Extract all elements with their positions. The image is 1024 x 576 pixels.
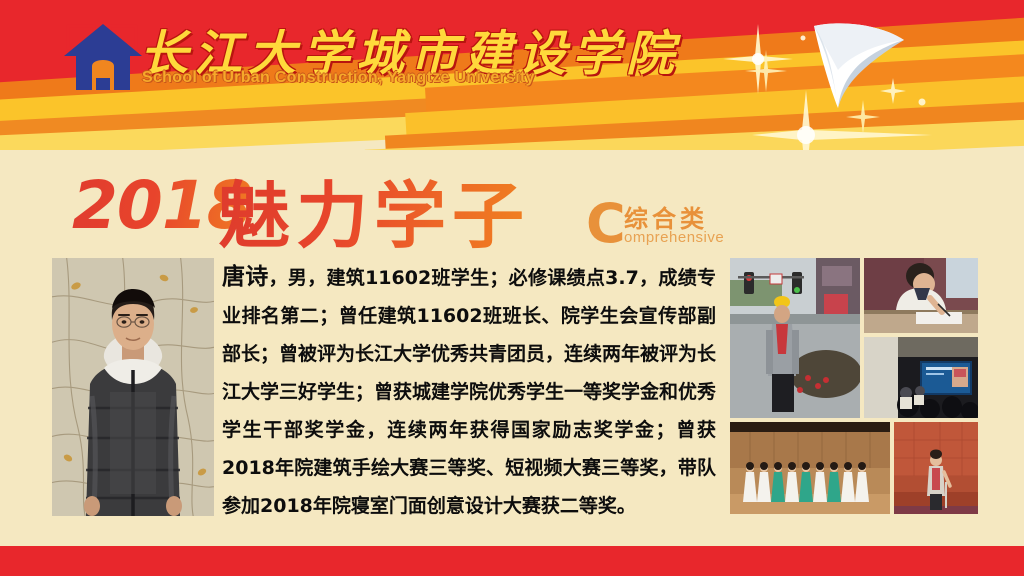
photo-lecture-hall xyxy=(864,337,978,418)
category-letter: C xyxy=(586,197,626,251)
photo-stage-chorus xyxy=(730,422,890,514)
school-name-en: School of Urban Construction, Yangtze Un… xyxy=(142,69,535,87)
title-row: 2018 魅力学子 C 综合类 omprehensive xyxy=(0,155,1024,260)
category-label-en: omprehensive xyxy=(624,229,724,246)
footer-band xyxy=(0,546,1024,576)
category-badge: C 综合类 omprehensive xyxy=(586,197,746,255)
header-banner: 长江大学城市建设学院 School of Urban Construction,… xyxy=(0,0,1024,150)
photo-stage-solo xyxy=(894,422,978,514)
photo-studying-desk xyxy=(864,258,978,333)
poster-root: 长江大学城市建设学院 School of Urban Construction,… xyxy=(0,0,1024,576)
paper-plane-icon xyxy=(800,18,920,110)
house-logo-icon xyxy=(62,16,144,94)
photo-collage xyxy=(730,258,1012,518)
student-name: 唐诗 xyxy=(222,264,269,290)
student-bio: 唐诗，男，建筑11602班学生；必修课绩点3.7，成绩专业排名第二；曾任建筑11… xyxy=(222,258,716,525)
photo-traffic-volunteer xyxy=(730,258,860,418)
student-bio-text: ，男，建筑11602班学生；必修课绩点3.7，成绩专业排名第二；曾任建筑1160… xyxy=(222,267,716,517)
title-main: 魅力学子 xyxy=(218,157,530,262)
student-portrait-photo xyxy=(52,258,214,516)
